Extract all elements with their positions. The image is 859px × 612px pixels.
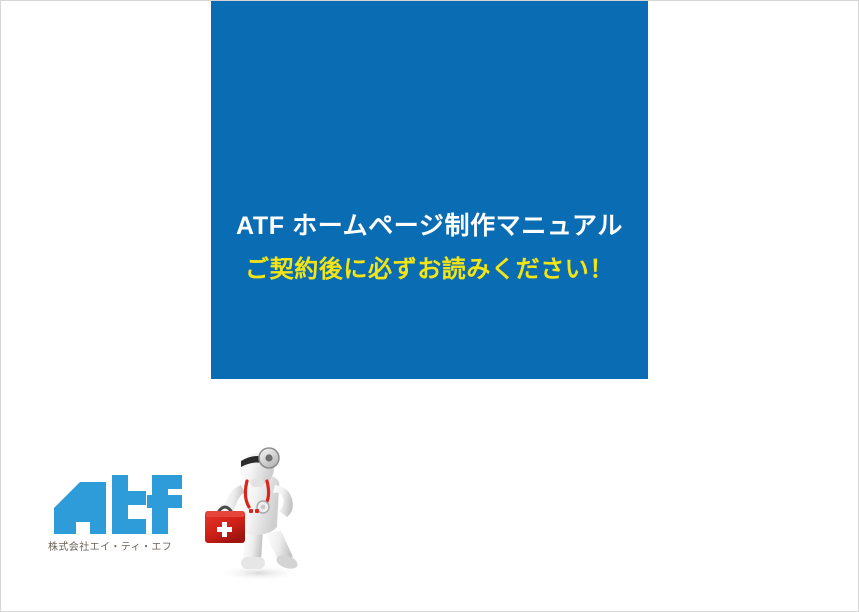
atf-wordmark-icon: [48, 475, 185, 537]
mascot-chest-button-1: [249, 509, 253, 513]
mascot-neck: [251, 479, 264, 487]
atf-logo-lockup: 株式会社エイ・ティ・エフ: [48, 475, 193, 553]
mascot-chest-button-2: [255, 509, 259, 513]
slide-canvas: ATF ホームページ制作マニュアル ご契約後に必ずお読みください！ 株式会社エイ…: [0, 0, 859, 612]
hero-panel: ATF ホームページ制作マニュアル ご契約後に必ずお読みください！: [211, 0, 648, 379]
head-mirror-center: [265, 454, 272, 461]
page-subtitle: ご契約後に必ずお読みください！: [211, 256, 648, 284]
mascot-front-foot: [241, 557, 265, 569]
medical-cross-horizontal: [217, 527, 232, 532]
doctor-robot-mascot: [197, 445, 315, 581]
logo-tagline: 株式会社エイ・ティ・エフ: [48, 538, 193, 553]
page-title: ATF ホームページ制作マニュアル: [211, 212, 648, 242]
hero-text-block: ATF ホームページ制作マニュアル ご契約後に必ずお読みください！: [211, 212, 648, 284]
